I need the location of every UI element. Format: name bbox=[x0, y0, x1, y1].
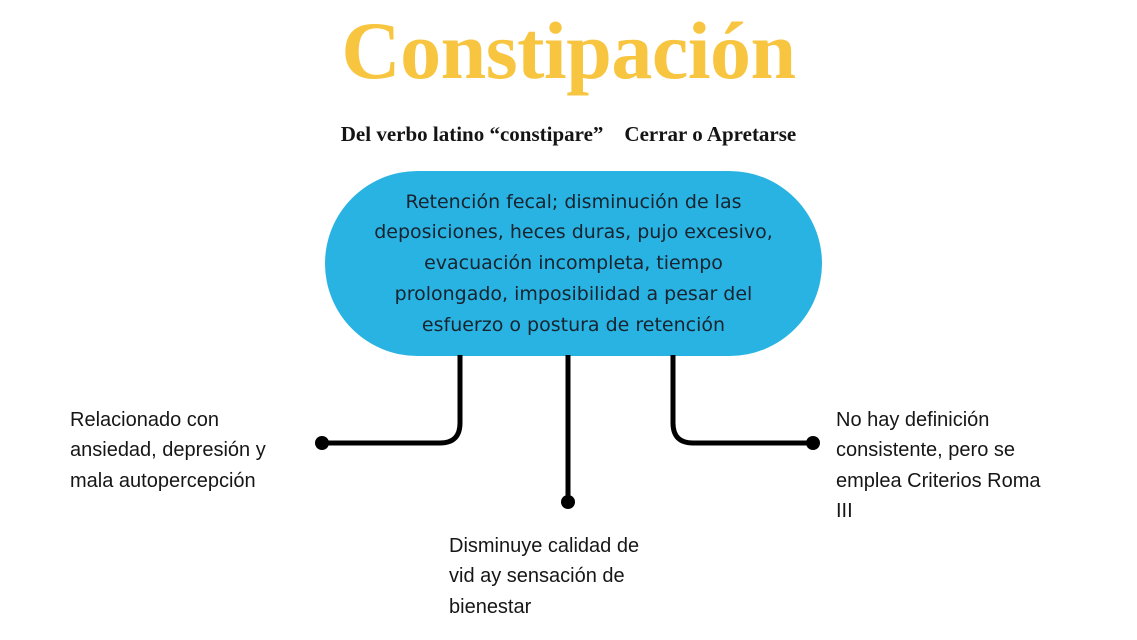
central-definition-node: Retención fecal; disminución de las depo… bbox=[325, 171, 822, 356]
connector-right-endpoint-dot bbox=[806, 436, 820, 450]
connector-right bbox=[673, 355, 813, 443]
slide-canvas: Constipación Del verbo latino “constipar… bbox=[0, 0, 1137, 640]
subtitle-etymology: Del verbo latino “constipare” Cerrar o A… bbox=[0, 122, 1137, 147]
branch-label-left: Relacionado con ansiedad, depresión y ma… bbox=[70, 405, 320, 496]
central-definition-text: Retención fecal; disminución de las depo… bbox=[359, 187, 789, 341]
page-title: Constipación bbox=[0, 8, 1137, 94]
branch-label-right: No hay definición consistente, pero se e… bbox=[836, 405, 1076, 527]
branch-label-bottom: Disminuye calidad de vid ay sensación de… bbox=[449, 531, 679, 622]
connector-left bbox=[322, 355, 460, 443]
connector-center-endpoint-dot bbox=[561, 495, 575, 509]
